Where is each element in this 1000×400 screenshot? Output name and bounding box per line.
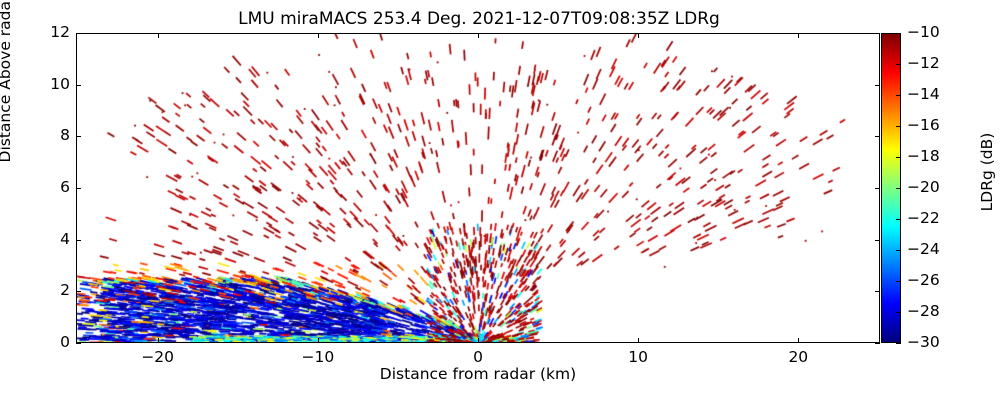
tick-mark	[896, 188, 901, 189]
tick-label: 0	[438, 348, 518, 366]
tick-label: 4	[28, 230, 70, 248]
tick-label: −26	[907, 271, 967, 289]
tick-label: −12	[907, 54, 967, 72]
tick-mark	[318, 338, 319, 343]
tick-mark	[875, 188, 880, 189]
tick-label: 20	[758, 348, 838, 366]
tick-mark	[76, 291, 81, 292]
tick-label: −22	[907, 209, 967, 227]
tick-label: −24	[907, 240, 967, 258]
tick-mark	[896, 250, 901, 251]
page-title: LMU miraMACS 253.4 Deg. 2021-12-07T09:08…	[0, 9, 958, 29]
tick-mark	[638, 338, 639, 343]
tick-mark	[76, 33, 81, 34]
tick-label: 10	[598, 348, 678, 366]
tick-mark	[896, 126, 901, 127]
tick-mark	[875, 136, 880, 137]
tick-mark	[896, 343, 901, 344]
tick-mark	[896, 64, 901, 65]
tick-label: 12	[28, 23, 70, 41]
tick-label: 2	[28, 281, 70, 299]
tick-label: 0	[28, 333, 70, 351]
tick-label: −28	[907, 302, 967, 320]
tick-mark	[76, 136, 81, 137]
tick-label: −20	[907, 178, 967, 196]
tick-mark	[896, 281, 901, 282]
tick-label: 8	[28, 126, 70, 144]
tick-mark	[896, 312, 901, 313]
plot-area	[76, 33, 880, 343]
tick-mark	[875, 240, 880, 241]
tick-label: −10	[278, 348, 358, 366]
tick-label: 10	[28, 75, 70, 93]
tick-label: 6	[28, 178, 70, 196]
tick-label: −16	[907, 116, 967, 134]
tick-mark	[875, 33, 880, 34]
tick-label: −10	[907, 23, 967, 41]
tick-mark	[798, 338, 799, 343]
tick-mark	[318, 33, 319, 38]
tick-mark	[158, 33, 159, 38]
tick-label: −18	[907, 147, 967, 165]
colorbar-label: LDRg (dB)	[978, 22, 996, 322]
y-axis-label: Distance Above radar (km)	[0, 0, 14, 188]
tick-mark	[896, 219, 901, 220]
tick-mark	[478, 33, 479, 38]
tick-label: −14	[907, 85, 967, 103]
tick-mark	[76, 188, 81, 189]
tick-label: −30	[907, 333, 967, 351]
tick-mark	[875, 85, 880, 86]
tick-mark	[158, 338, 159, 343]
tick-mark	[798, 33, 799, 38]
tick-mark	[638, 33, 639, 38]
radar-rhi-figure: LMU miraMACS 253.4 Deg. 2021-12-07T09:08…	[0, 0, 1000, 400]
tick-mark	[896, 33, 901, 34]
tick-mark	[478, 338, 479, 343]
tick-mark	[875, 291, 880, 292]
tick-mark	[76, 343, 81, 344]
tick-label: −20	[118, 348, 198, 366]
scatter-plot-canvas	[77, 34, 880, 343]
x-axis-label: Distance from radar (km)	[76, 365, 880, 383]
tick-mark	[76, 85, 81, 86]
tick-mark	[896, 157, 901, 158]
tick-mark	[896, 95, 901, 96]
tick-mark	[875, 343, 880, 344]
tick-mark	[76, 240, 81, 241]
